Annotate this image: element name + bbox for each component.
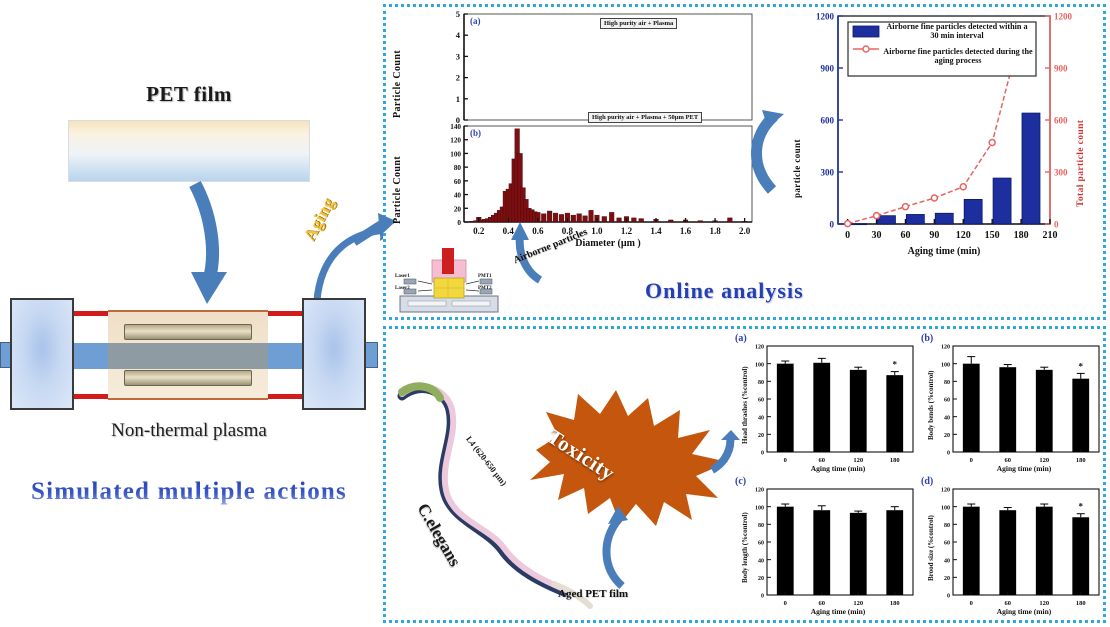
svg-text:60: 60	[944, 541, 950, 547]
svg-text:180: 180	[1076, 457, 1086, 464]
svg-text:1: 1	[456, 94, 460, 104]
svg-text:80: 80	[454, 164, 462, 172]
brood-size-x-axis-label: Aging time (min)	[949, 607, 1099, 616]
svg-text:*: *	[893, 360, 898, 370]
svg-text:140: 140	[450, 123, 461, 131]
pmt1-label: PMT1	[478, 274, 492, 279]
svg-text:60: 60	[1005, 457, 1012, 464]
hist-panel-a-tag: (a)	[470, 16, 481, 26]
svg-text:20: 20	[454, 205, 462, 213]
particle-size-distribution-chart: 012345 020406080100120140 0.20.40.60.81.…	[392, 8, 772, 253]
svg-text:0.2: 0.2	[473, 226, 485, 236]
svg-text:0: 0	[970, 600, 973, 607]
body-bends-tag: (b)	[921, 333, 933, 344]
svg-text:120: 120	[755, 345, 764, 351]
svg-text:120: 120	[853, 600, 863, 607]
svg-text:120: 120	[941, 345, 950, 351]
body-bends-svg: 020406080100120060120*180	[919, 332, 1105, 477]
svg-text:0: 0	[457, 219, 461, 227]
svg-text:0: 0	[947, 451, 950, 457]
svg-text:900: 900	[821, 64, 835, 74]
head-thrashes-tag: (a)	[735, 333, 747, 344]
svg-text:150: 150	[985, 230, 1000, 241]
simulated-multiple-actions-title: Simulated multiple actions	[0, 478, 378, 506]
body-length-y-axis-label: Body length (%control)	[741, 489, 749, 607]
svg-text:60: 60	[900, 230, 910, 241]
svg-text:100: 100	[755, 362, 764, 368]
svg-text:20: 20	[944, 576, 950, 582]
brood-size-y-axis-label: Brood size (%control)	[927, 489, 935, 607]
svg-text:5: 5	[456, 9, 460, 19]
hist-panel-b-tag: (b)	[470, 128, 481, 138]
head-thrashes-y-axis-label: Head thrashes (%control)	[741, 346, 749, 464]
svg-text:0: 0	[947, 594, 950, 600]
svg-text:120: 120	[1039, 457, 1049, 464]
svg-text:3: 3	[456, 51, 460, 61]
body-bends-y-axis-label: Body bends (%control)	[927, 346, 935, 464]
non-thermal-plasma-reactor	[0, 288, 378, 428]
svg-text:0: 0	[1054, 220, 1059, 230]
svg-text:180: 180	[890, 600, 900, 607]
brood-size-tag: (d)	[921, 476, 933, 487]
svg-text:120: 120	[956, 230, 971, 241]
flange-left	[10, 298, 74, 410]
histogram-to-trend-arrow-icon	[740, 110, 796, 200]
aged-pet-to-toxicity-arrow-icon	[596, 506, 638, 590]
svg-text:1.6: 1.6	[680, 226, 692, 236]
svg-text:120: 120	[853, 457, 863, 464]
svg-text:60: 60	[758, 541, 764, 547]
svg-text:*: *	[1079, 502, 1084, 512]
svg-text:120: 120	[755, 488, 764, 494]
head-thrashes-chart: 020406080100120060120*180(a)Head thrashe…	[733, 332, 919, 477]
svg-text:120: 120	[1039, 600, 1049, 607]
svg-text:2: 2	[456, 73, 460, 83]
laser2-label: Laser2	[395, 286, 410, 291]
svg-text:40: 40	[758, 415, 764, 421]
svg-text:600: 600	[1054, 116, 1068, 126]
svg-text:40: 40	[944, 558, 950, 564]
hist-panel-b-condition: High purity air + Plasma + 50µm PET	[588, 112, 702, 123]
head-thrashes-x-axis-label: Aging time (min)	[763, 464, 913, 473]
trend-y-axis-label: particle count	[792, 48, 802, 198]
pmt2-label: PMT2	[478, 286, 492, 291]
plasma-discharge-zone	[108, 343, 268, 369]
svg-text:0: 0	[761, 451, 764, 457]
aging-time-particle-count-chart: 03006009001200 03006009001200 0306090120…	[790, 8, 1100, 266]
svg-text:40: 40	[758, 558, 764, 564]
svg-text:100: 100	[941, 505, 950, 511]
electrode-top	[124, 324, 252, 340]
svg-text:80: 80	[944, 523, 950, 529]
svg-text:40: 40	[944, 415, 950, 421]
svg-text:1.2: 1.2	[621, 226, 633, 236]
brood-size-chart: 020406080100120060120*180(d)Brood size (…	[919, 475, 1105, 620]
svg-text:40: 40	[454, 192, 462, 200]
body-length-tag: (c)	[735, 476, 746, 487]
svg-text:210: 210	[1043, 230, 1058, 241]
svg-text:4: 4	[456, 30, 461, 40]
trend-legend-bar-label: Airborne fine particles detected within …	[882, 22, 1032, 40]
brood-size-svg: 020406080100120060120*180	[919, 475, 1105, 620]
aged-pet-film-label: Aged PET film	[558, 588, 628, 600]
svg-text:20: 20	[758, 576, 764, 582]
svg-text:1.8: 1.8	[709, 226, 721, 236]
trend-legend-line-label: Airborne fine particles detected during …	[882, 47, 1034, 65]
svg-text:60: 60	[819, 600, 826, 607]
head-thrashes-svg: 020406080100120060120*180	[733, 332, 919, 477]
hist-panel-a-condition: High purity air + Plasma	[600, 18, 677, 29]
svg-text:180: 180	[1076, 600, 1086, 607]
svg-text:120: 120	[941, 488, 950, 494]
pet-film-title: PET film	[0, 82, 378, 107]
hist-a-y-axis-label: Particle Count	[392, 22, 403, 118]
trend-y2-axis-label: Total particle count	[1076, 42, 1086, 207]
body-bends-chart: 020406080100120060120*180(b)Body bends (…	[919, 332, 1105, 477]
svg-text:60: 60	[454, 178, 462, 186]
svg-text:180: 180	[890, 457, 900, 464]
svg-text:80: 80	[758, 523, 764, 529]
svg-text:0: 0	[830, 220, 835, 230]
svg-text:80: 80	[758, 380, 764, 386]
svg-text:0: 0	[761, 594, 764, 600]
svg-text:80: 80	[944, 380, 950, 386]
svg-text:180: 180	[1014, 230, 1029, 241]
svg-text:100: 100	[450, 150, 461, 158]
svg-text:60: 60	[944, 398, 950, 404]
online-analysis-title: Online analysis	[645, 278, 804, 304]
svg-text:*: *	[1079, 361, 1084, 371]
svg-text:2.0: 2.0	[739, 226, 751, 236]
graphical-abstract: PET film Aging Non-thermal plasma Simula…	[0, 0, 1110, 627]
svg-text:0: 0	[784, 457, 787, 464]
body-bends-x-axis-label: Aging time (min)	[949, 464, 1099, 473]
svg-text:60: 60	[758, 398, 764, 404]
reactor-caption: Non-thermal plasma	[0, 420, 378, 442]
svg-text:30: 30	[872, 230, 882, 241]
body-length-chart: 020406080100120060120180(c)Body length (…	[733, 475, 919, 620]
svg-text:20: 20	[758, 433, 764, 439]
svg-text:1.4: 1.4	[650, 226, 662, 236]
svg-text:1200: 1200	[816, 12, 835, 22]
particle-size-distribution-svg: 012345 020406080100120140 0.20.40.60.81.…	[392, 8, 772, 253]
svg-text:100: 100	[941, 362, 950, 368]
svg-text:1200: 1200	[1054, 12, 1073, 22]
pet-film-illustration	[68, 120, 310, 182]
svg-text:900: 900	[1054, 64, 1068, 74]
gas-outlet-stub	[364, 342, 378, 368]
svg-text:90: 90	[929, 230, 939, 241]
svg-text:0: 0	[970, 457, 973, 464]
svg-text:0: 0	[784, 600, 787, 607]
laser1-label: Laser1	[395, 274, 410, 279]
svg-text:300: 300	[821, 168, 835, 178]
svg-text:100: 100	[755, 505, 764, 511]
trend-x-axis-label: Aging time (min)	[838, 246, 1050, 257]
svg-text:1.0: 1.0	[591, 226, 603, 236]
hist-panel-b: 020406080100120140 0.20.40.60.81.01.21.4…	[450, 123, 752, 236]
toxicity-endpoint-charts: 020406080100120060120*180(a)Head thrashe…	[733, 332, 1105, 622]
svg-text:60: 60	[819, 457, 826, 464]
optical-particle-counter-schematic: Laser1 Laser2 PMT1 PMT2	[396, 246, 502, 314]
svg-text:0: 0	[845, 230, 850, 241]
electrode-bottom	[124, 370, 252, 386]
process-schematic-panel: PET film Aging Non-thermal plasma Simula…	[0, 0, 378, 627]
body-length-x-axis-label: Aging time (min)	[763, 607, 913, 616]
flange-right	[302, 298, 366, 410]
svg-text:300: 300	[1054, 168, 1068, 178]
svg-text:20: 20	[944, 433, 950, 439]
body-length-svg: 020406080100120060120180	[733, 475, 919, 620]
svg-text:600: 600	[821, 116, 835, 126]
hist-b-y-axis-label: Particle Count	[392, 132, 403, 224]
svg-text:120: 120	[450, 137, 461, 145]
svg-text:60: 60	[1005, 600, 1012, 607]
